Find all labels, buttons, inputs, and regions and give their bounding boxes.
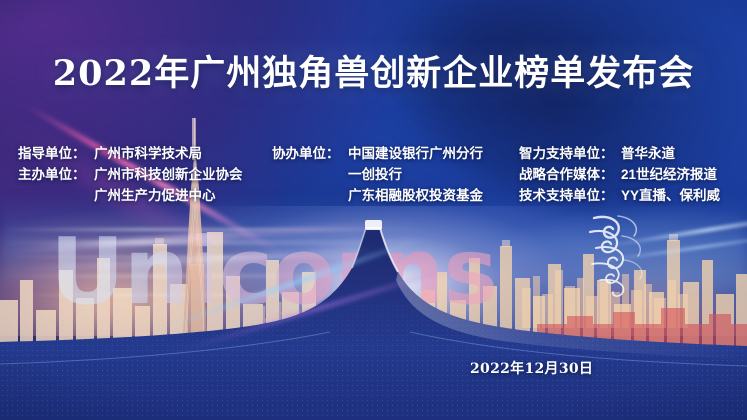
- event-poster: Unicorns: [0, 0, 747, 420]
- auspicious-cloud-swirls: [588, 212, 708, 302]
- credit-label: 战略合作媒体：: [519, 164, 621, 185]
- credit-label: 智力支持单位：: [519, 143, 621, 164]
- event-date: 2022年12月30日: [470, 358, 593, 378]
- credit-row: 指导单位： 广州市科学技术局: [18, 143, 243, 164]
- page-title: 2022年广州独角兽创新企业榜单发布会: [0, 45, 747, 96]
- credit-row: 广东相融股权投资基金: [272, 185, 483, 206]
- credits-middle-column: 协办单位： 中国建设银行广州分行 一创投行 广东相融股权投资基金: [272, 143, 483, 206]
- credit-label: 技术支持单位：: [519, 185, 621, 206]
- credit-row: 主办单位： 广州市科技创新企业协会: [18, 164, 243, 185]
- credit-row: 协办单位： 中国建设银行广州分行: [272, 143, 483, 164]
- credits-block: 指导单位： 广州市科学技术局 主办单位： 广州市科技创新企业协会 广州生产力促进…: [0, 143, 747, 207]
- credit-row: 技术支持单位： YY直播、保利威: [519, 185, 720, 206]
- credit-value: 广东相融股权投资基金: [348, 185, 483, 206]
- credits-right-column: 智力支持单位： 普华永道 战略合作媒体： 21世纪经济报道 技术支持单位： YY…: [519, 143, 720, 206]
- credit-label: 协办单位：: [272, 143, 348, 164]
- credit-value: 一创投行: [348, 164, 402, 185]
- credit-label: 指导单位：: [18, 143, 94, 164]
- credit-value: 21世纪经济报道: [621, 164, 717, 185]
- credit-row: 智力支持单位： 普华永道: [519, 143, 720, 164]
- credit-value: 广州市科技创新企业协会: [94, 164, 243, 185]
- credit-row: 一创投行: [272, 164, 483, 185]
- road-dot-texture: [0, 288, 747, 420]
- credit-value: 普华永道: [621, 143, 675, 164]
- credit-row: 广州生产力促进中心: [18, 185, 243, 206]
- credit-value: 广州生产力促进中心: [94, 185, 216, 206]
- credit-value: YY直播、保利威: [621, 185, 720, 206]
- credit-value: 广州市科学技术局: [94, 143, 202, 164]
- credit-label: 主办单位：: [18, 164, 94, 185]
- credits-left-column: 指导单位： 广州市科学技术局 主办单位： 广州市科技创新企业协会 广州生产力促进…: [18, 143, 243, 206]
- credit-value: 中国建设银行广州分行: [348, 143, 483, 164]
- credit-row: 战略合作媒体： 21世纪经济报道: [519, 164, 720, 185]
